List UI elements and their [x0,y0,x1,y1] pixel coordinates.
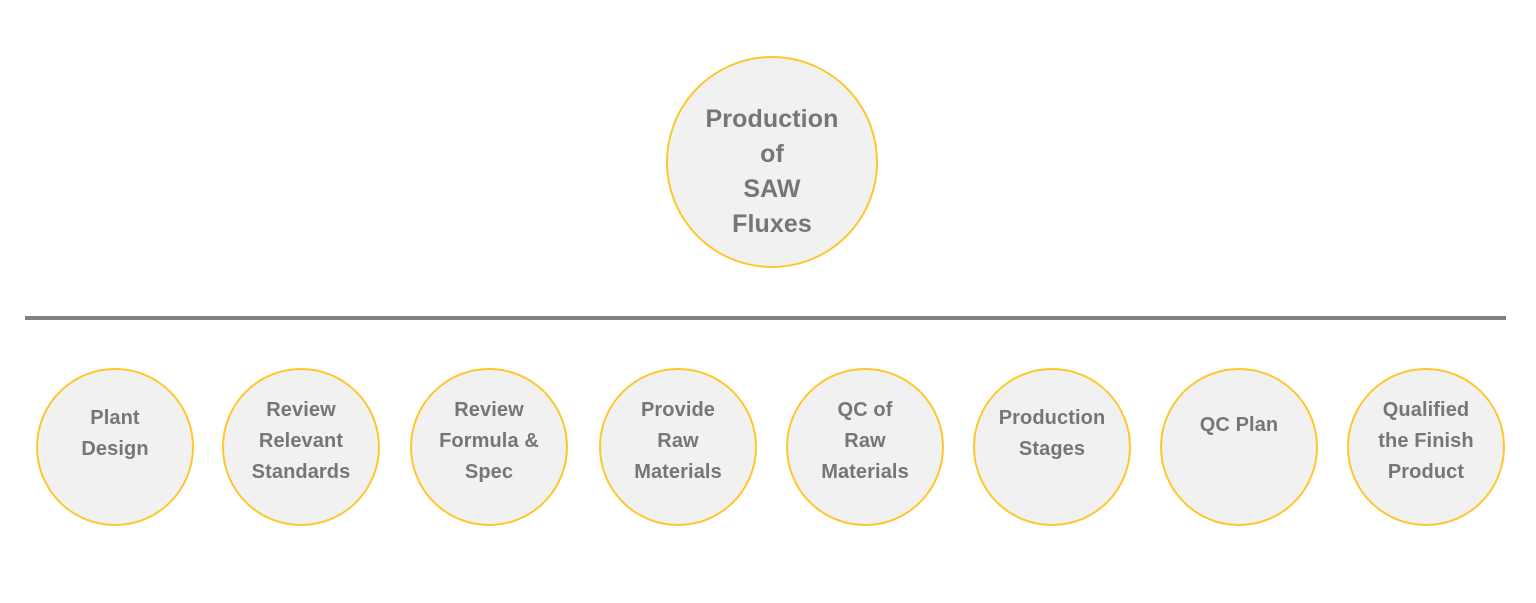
step-node-production-stages[interactable]: Production Stages [973,368,1131,526]
step-node-label: QC of Raw Materials [789,395,941,488]
step-node-qualified-the-finish-product[interactable]: Qualified the Finish Product [1347,368,1505,526]
step-node-label: Plant Design [39,403,191,465]
step-node-label: Production Stages [976,403,1128,465]
horizontal-divider [25,316,1506,320]
step-node-plant-design[interactable]: Plant Design [36,368,194,526]
step-node-provide-raw-materials[interactable]: Provide Raw Materials [599,368,757,526]
step-node-label: Review Relevant Standards [225,395,377,488]
step-node-review-relevant-standards[interactable]: Review Relevant Standards [222,368,380,526]
step-node-label: QC Plan [1163,410,1315,441]
step-node-label: Provide Raw Materials [602,395,754,488]
step-node-label: Review Formula & Spec [413,395,565,488]
root-node-production-of-saw-fluxes[interactable]: Production of SAW Fluxes [666,56,878,268]
process-diagram: Production of SAW Fluxes Plant Design Re… [0,0,1536,603]
process-step-row: Plant Design Review Relevant Standards R… [0,368,1536,530]
step-node-review-formula-and-spec[interactable]: Review Formula & Spec [410,368,568,526]
root-node-label: Production of SAW Fluxes [706,102,839,242]
step-node-label: Qualified the Finish Product [1350,395,1502,488]
step-node-qc-plan[interactable]: QC Plan [1160,368,1318,526]
step-node-qc-of-raw-materials[interactable]: QC of Raw Materials [786,368,944,526]
